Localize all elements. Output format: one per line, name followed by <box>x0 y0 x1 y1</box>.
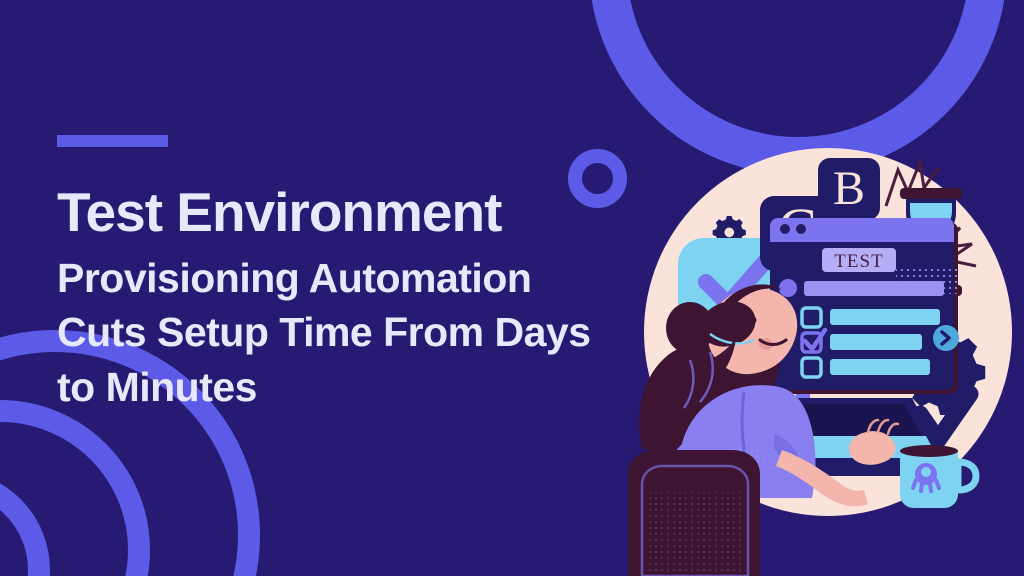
hero-illustration: C B <box>624 148 1024 576</box>
subtitle-line-1: Provisioning Automation <box>57 251 657 305</box>
checklist-bar <box>830 359 930 375</box>
window-dot <box>796 224 806 234</box>
letter-tile-b: B <box>818 158 880 220</box>
avatar <box>779 279 797 297</box>
subtitle-line-2: Cuts Setup Time From Days <box>57 305 657 359</box>
subtitle-line-3: to Minutes <box>57 360 657 414</box>
page-subtitle: Provisioning Automation Cuts Setup Time … <box>57 251 657 413</box>
window-dot <box>780 224 790 234</box>
test-badge-label: TEST <box>834 251 883 272</box>
headline-block: Test Environment Provisioning Automation… <box>57 135 657 414</box>
nav-next-button <box>933 325 959 351</box>
checklist-bar <box>830 309 940 325</box>
decorative-arc-middle <box>0 400 150 576</box>
promo-banner: Test Environment Provisioning Automation… <box>0 0 1024 576</box>
checklist-bar <box>830 334 922 350</box>
page-title: Test Environment <box>57 183 657 241</box>
decorative-arc-inner <box>0 470 50 576</box>
accent-bar <box>57 135 168 147</box>
letter-tile-label: B <box>833 162 865 215</box>
